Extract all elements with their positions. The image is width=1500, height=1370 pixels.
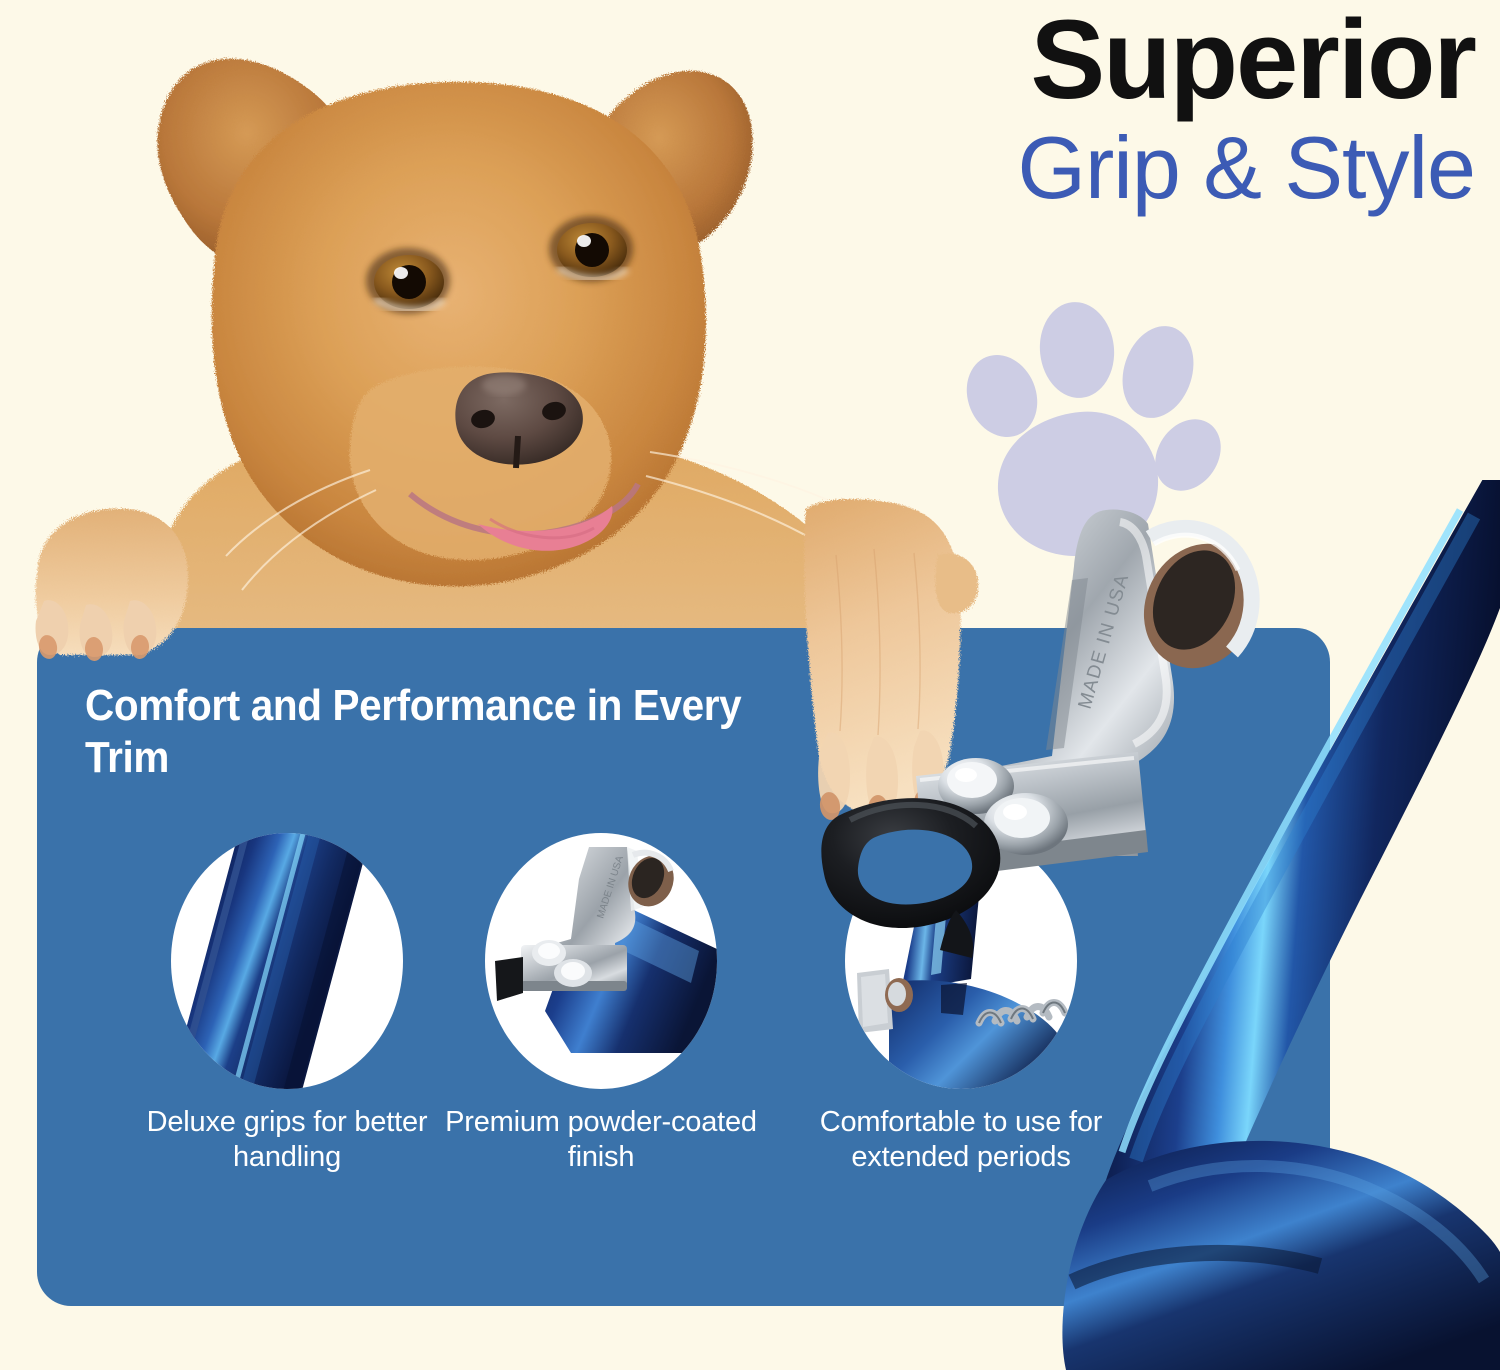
feature-caption-2: Premium powder-coated finish [441,1105,761,1176]
headline-line-2: Grip & Style [855,119,1475,218]
dog-nail-clipper: MADE IN USA [820,480,1500,1370]
clipper-head-closeup: MADE IN USA [485,833,717,1089]
feature-item-1: Deluxe grips for better handling [127,833,447,1176]
card-title: Comfort and Performance in Every Trim [85,680,784,784]
clipper-handle-closeup [171,833,403,1089]
promo-canvas: Superior Grip & Style Comfort and Perfor… [0,0,1500,1370]
headline-line-1: Superior [855,5,1475,115]
feature-caption-1: Deluxe grips for better handling [127,1105,447,1176]
page-title: Superior Grip & Style [855,5,1475,217]
dog-paw-left [18,505,203,665]
feature-item-2: MADE IN USA Premium powder-coated finish [441,833,761,1176]
